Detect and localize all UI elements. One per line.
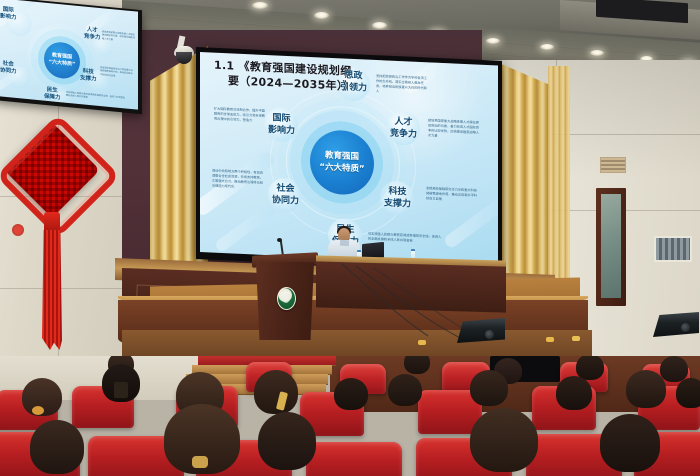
wall-air-vent-icon (654, 236, 692, 262)
node-desc-keji: 发挥高校基础研究主力军和重大科技突破策源地作用，推动实现高水平科技自立自强 (426, 186, 478, 203)
node-desc-guoji: 扩大国际教育交流和合作，提升中国教育的全球适应力、吸引力和全球教育治理中的引领力… (214, 107, 266, 124)
downlight-icon (486, 38, 500, 44)
slide-center-line2: “六大特质” (319, 161, 364, 175)
downlight-icon (372, 22, 387, 29)
wall-vent-icon (600, 157, 626, 173)
side-label-shehui: 社会协同力 (0, 60, 17, 75)
downlight-icon (540, 44, 554, 50)
stage-monitor-left (457, 318, 505, 343)
node-label-sizheng: 思政 引领力 (340, 70, 367, 95)
stage-edge-light (546, 337, 554, 342)
side-desc-text: 切实增强人民群众教育获得感幸福感安全感，促进人的全面发展和全体人民共同富裕 (66, 91, 126, 103)
left-side-display[interactable]: 教育强国 “六大特质” 国际影响力 人才竞争力 社会协同力 科技支撑力 民生保障… (0, 0, 138, 110)
audience-head (470, 370, 508, 406)
stage-monitor-right (653, 312, 699, 337)
auditorium-photo-scene: 教育强国 “六大特质” 国际影响力 人才竞争力 社会协同力 科技支撑力 民生保障… (0, 0, 700, 476)
downlight-icon (252, 2, 268, 9)
audience-head (600, 414, 660, 472)
audience-head (334, 378, 368, 410)
side-label-keji: 科技支撑力 (80, 68, 97, 83)
audience-head (660, 356, 688, 382)
side-label-guoji: 国际影响力 (0, 6, 17, 21)
side-label-minsheng: 民生保障力 (44, 87, 61, 102)
slide-section-number: 1.1 (214, 59, 234, 73)
node-desc-sizheng: 坚持把思想政治工作作为学校各项工作的生命线，落实立德树人根本任务，培养担当民族复… (376, 74, 428, 96)
side-screen-center-line2: “六大特质” (49, 59, 76, 69)
side-label-rencai: 人才竞争力 (84, 26, 101, 41)
node-desc-shehui: 调动中央和地方两个积极性，有效协调整合全社会资源，形成支持教育、汇聚强大合力，推… (212, 169, 264, 191)
door-glass-panel (601, 194, 621, 298)
audience-head (556, 376, 592, 410)
node-label-shehui: 社会 协同力 (272, 183, 299, 208)
audience-head (404, 356, 430, 374)
university-seal-emblem (277, 287, 296, 310)
audience-head (30, 420, 84, 474)
stage-edge-light (572, 336, 580, 341)
slide-title: 1.1 《教育强国建设规划纲 要（2024—2035年）》 (214, 59, 399, 97)
node-label-keji: 科技 支撑力 (384, 186, 411, 211)
node-desc-rencai: 把培养国家重大战略急需人才摆在更加突出的位置，着力形成人才国际竞争的比较优势，加… (428, 118, 480, 140)
knot-tassel (42, 230, 62, 350)
audience-head (470, 408, 538, 472)
audience-head (626, 370, 666, 408)
hair-tie (192, 456, 208, 468)
slide-title-line2: 要（2024—2035年）》 (228, 74, 399, 97)
seated-audience (0, 356, 700, 476)
chinese-knot-wall-decoration (12, 126, 92, 372)
stage-edge-light (418, 340, 426, 345)
node-label-rencai: 人才 竞争力 (390, 117, 417, 142)
audience-head (258, 412, 316, 470)
hair-tie (32, 406, 44, 415)
presenter-shirt-collar (340, 240, 349, 247)
audience-head (388, 374, 422, 406)
microphone-head-icon (277, 238, 282, 242)
hair-clip (114, 382, 128, 398)
audience-head (676, 378, 700, 408)
stage-cables (330, 262, 590, 342)
downlight-icon (314, 12, 329, 19)
node-label-guoji: 国际 影响力 (268, 113, 295, 138)
list-item[interactable] (306, 442, 402, 476)
downlight-icon (590, 50, 604, 56)
